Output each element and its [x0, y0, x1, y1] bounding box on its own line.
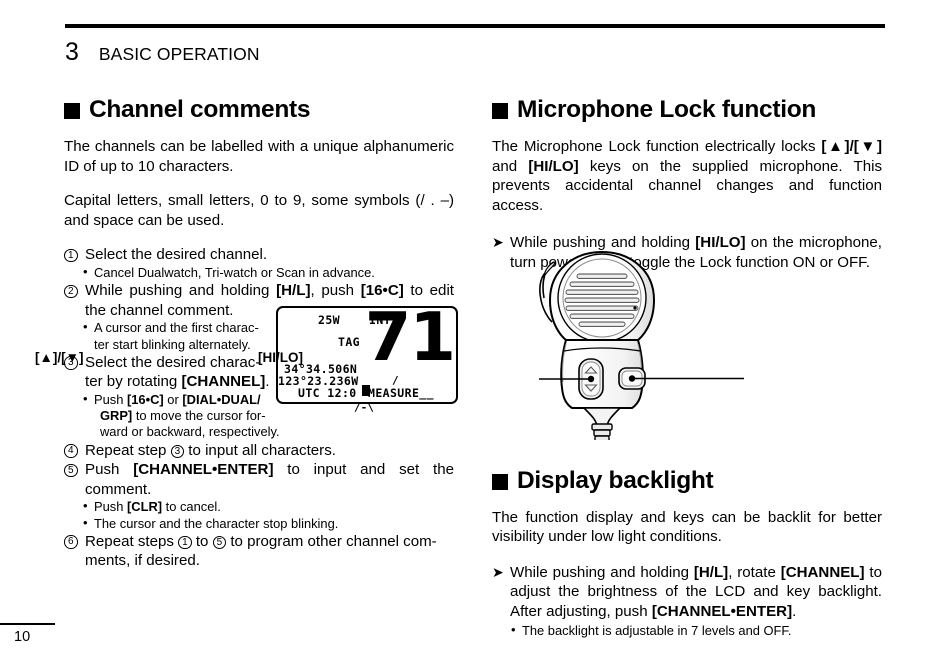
bullet-icon: •	[83, 264, 88, 280]
key-label: GRP]	[100, 408, 132, 423]
lcd-channel-comment: MEASURE__	[368, 386, 434, 400]
microphone-grille	[565, 274, 639, 326]
black-square-icon	[492, 103, 508, 119]
mic-text-a: The Microphone Lock function electricall…	[492, 138, 821, 155]
step-number: 4	[64, 444, 78, 458]
mic-updown-label: [▲]/[▼]	[35, 350, 83, 365]
step-subnote: • Push [16•C] or [DIAL•DUAL/	[64, 392, 280, 408]
subnote-text-c: to move the cursor for-	[132, 408, 265, 423]
step-text-a: Push	[85, 461, 133, 478]
section-heading-label: Microphone Lock function	[517, 96, 816, 124]
step-subnote: • Push [CLR] to cancel.	[64, 499, 454, 515]
step-text-continued: ments, if desired.	[64, 551, 454, 571]
step-item: 4 Repeat step 3 to input all characters.	[64, 441, 454, 461]
lcd-tag-indicator: TAG	[338, 335, 360, 349]
wrapped-text-block: • A cursor and the first charac- ter sta…	[64, 320, 280, 440]
backlight-subnote: • The backlight is adjustable in 7 level…	[492, 623, 882, 639]
key-label: [▲]/[▼]	[821, 138, 882, 155]
section-heading-display-backlight: Display backlight	[492, 467, 882, 495]
mic-lock-paragraph: The Microphone Lock function electricall…	[492, 137, 882, 215]
page-number: 10	[14, 629, 30, 645]
step-text-continued: ter by rotating [CHANNEL].	[64, 372, 280, 392]
chapter-header: 3 BASIC OPERATION	[65, 38, 260, 67]
step-subnote: • Cancel Dualwatch, Tri-watch or Scan in…	[64, 265, 454, 281]
arrow-right-icon: ➤	[492, 563, 504, 583]
step-text-d: ments, if desired.	[85, 552, 200, 569]
step-reference: 1	[178, 536, 192, 550]
mic-text-b: and	[492, 158, 528, 175]
lcd-display-figure: 25W INT TAG 34°34.506N 123°23.236W UTC 1…	[276, 306, 458, 404]
footer-rule	[0, 623, 55, 625]
step-text-a: Repeat steps	[85, 533, 178, 550]
subnote-text: The cursor and the character stop blinki…	[94, 516, 338, 531]
step-text-c: to program other channel com-	[226, 533, 437, 550]
bullet-icon: •	[511, 622, 516, 638]
mic-hilo-label: [HI/LO]	[258, 350, 303, 365]
key-label: [16•C]	[361, 282, 404, 299]
black-square-icon	[492, 474, 508, 490]
subnote-text-a: Push	[94, 392, 127, 407]
step-number: 6	[64, 535, 78, 549]
subnote-text: A cursor and the first charac-	[94, 320, 259, 335]
step-item: 6 Repeat steps 1 to 5 to program other c…	[64, 532, 454, 552]
step-subnote-cont: ter start blinking alternately.	[64, 337, 280, 353]
microphone-cable	[584, 408, 620, 440]
intro-paragraph-1: The channels can be labelled with a uniq…	[64, 137, 454, 176]
key-label: [16•C]	[127, 392, 164, 407]
key-label: [CLR]	[127, 499, 162, 514]
header-rule	[65, 24, 885, 28]
step-reference: 5	[213, 536, 227, 550]
subnote-text-b: or	[164, 392, 183, 407]
backlight-instruction: ➤ While pushing and holding [H/L], rotat…	[492, 563, 882, 622]
step-text: Select the desired channel.	[85, 246, 267, 263]
step-text-a: Select the desired charac-	[85, 354, 260, 371]
step-subnote-cont: ward or backward, respectively.	[64, 424, 280, 440]
lcd-channel-number: 71	[365, 304, 454, 371]
subnote-text: ter start blinking alternately.	[94, 337, 251, 352]
subnote-text: Cancel Dualwatch, Tri-watch or Scan in a…	[94, 265, 375, 280]
step-number: 1	[64, 249, 78, 263]
arrow-text-a: While pushing and holding	[510, 564, 694, 581]
section-heading-label: Display backlight	[517, 467, 713, 495]
step-subnote: • The cursor and the character stop blin…	[64, 516, 454, 532]
key-label: [CHANNEL•ENTER]	[133, 461, 273, 478]
section-heading-microphone-lock: Microphone Lock function	[492, 96, 882, 124]
step-text-c: .	[265, 373, 269, 390]
step-number: 5	[64, 464, 78, 478]
subnote-text-b: to cancel.	[162, 499, 221, 514]
key-label: [HI/LO]	[528, 158, 578, 175]
arrow-text-b: , rotate	[728, 564, 780, 581]
step-subnote-cont: GRP] to move the cursor for-	[64, 408, 280, 424]
step-text-b: , push	[310, 282, 360, 299]
black-square-icon	[64, 103, 80, 119]
bullet-icon: •	[83, 515, 88, 531]
lcd-utc-time: UTC 12:0	[298, 386, 357, 400]
chapter-number: 3	[65, 38, 79, 67]
bullet-icon: •	[83, 319, 88, 335]
arrow-text-d: .	[792, 603, 796, 620]
step-text-a: While pushing and holding	[85, 282, 276, 299]
step-reference: 3	[171, 445, 185, 459]
intro-paragraph-2: Capital letters, small letters, 0 to 9, …	[64, 191, 454, 230]
microphone-illustration	[492, 248, 882, 440]
key-label: [CHANNEL]	[181, 373, 265, 390]
key-label: [CHANNEL]	[781, 564, 865, 581]
key-label: [H/L]	[276, 282, 310, 299]
step-item: 5 Push [CHANNEL•ENTER] to input and set …	[64, 460, 454, 499]
subnote-text-d: ward or backward, respectively.	[100, 424, 280, 439]
section-heading-channel-comments: Channel comments	[64, 96, 454, 124]
section-heading-label: Channel comments	[89, 96, 310, 124]
backlight-paragraph: The function display and keys can be bac…	[492, 508, 882, 547]
key-label: [CHANNEL•ENTER]	[652, 603, 792, 620]
lcd-bottom-marker: /-\	[354, 401, 374, 414]
chapter-title: BASIC OPERATION	[99, 44, 260, 65]
subnote-text: The backlight is adjustable in 7 levels …	[522, 623, 791, 638]
step-number: 2	[64, 285, 78, 299]
step-text-b: ter by rotating	[85, 373, 181, 390]
steps-list: 1 Select the desired channel. • Cancel D…	[64, 245, 454, 571]
bullet-icon: •	[83, 498, 88, 514]
subnote-text-a: Push	[94, 499, 127, 514]
step-item: 1 Select the desired channel.	[64, 245, 454, 265]
step-text-b: to input all characters.	[184, 442, 336, 459]
key-label: [H/L]	[694, 564, 728, 581]
key-label: [DIAL•DUAL/	[182, 392, 260, 407]
step-text-a: Repeat step	[85, 442, 171, 459]
bullet-icon: •	[83, 391, 88, 407]
step-text-b: to	[192, 533, 213, 550]
step-item: 3 Select the desired charac-	[64, 353, 280, 373]
step-subnote: • A cursor and the first charac-	[64, 320, 280, 336]
lcd-power-indicator: 25W	[318, 313, 340, 327]
